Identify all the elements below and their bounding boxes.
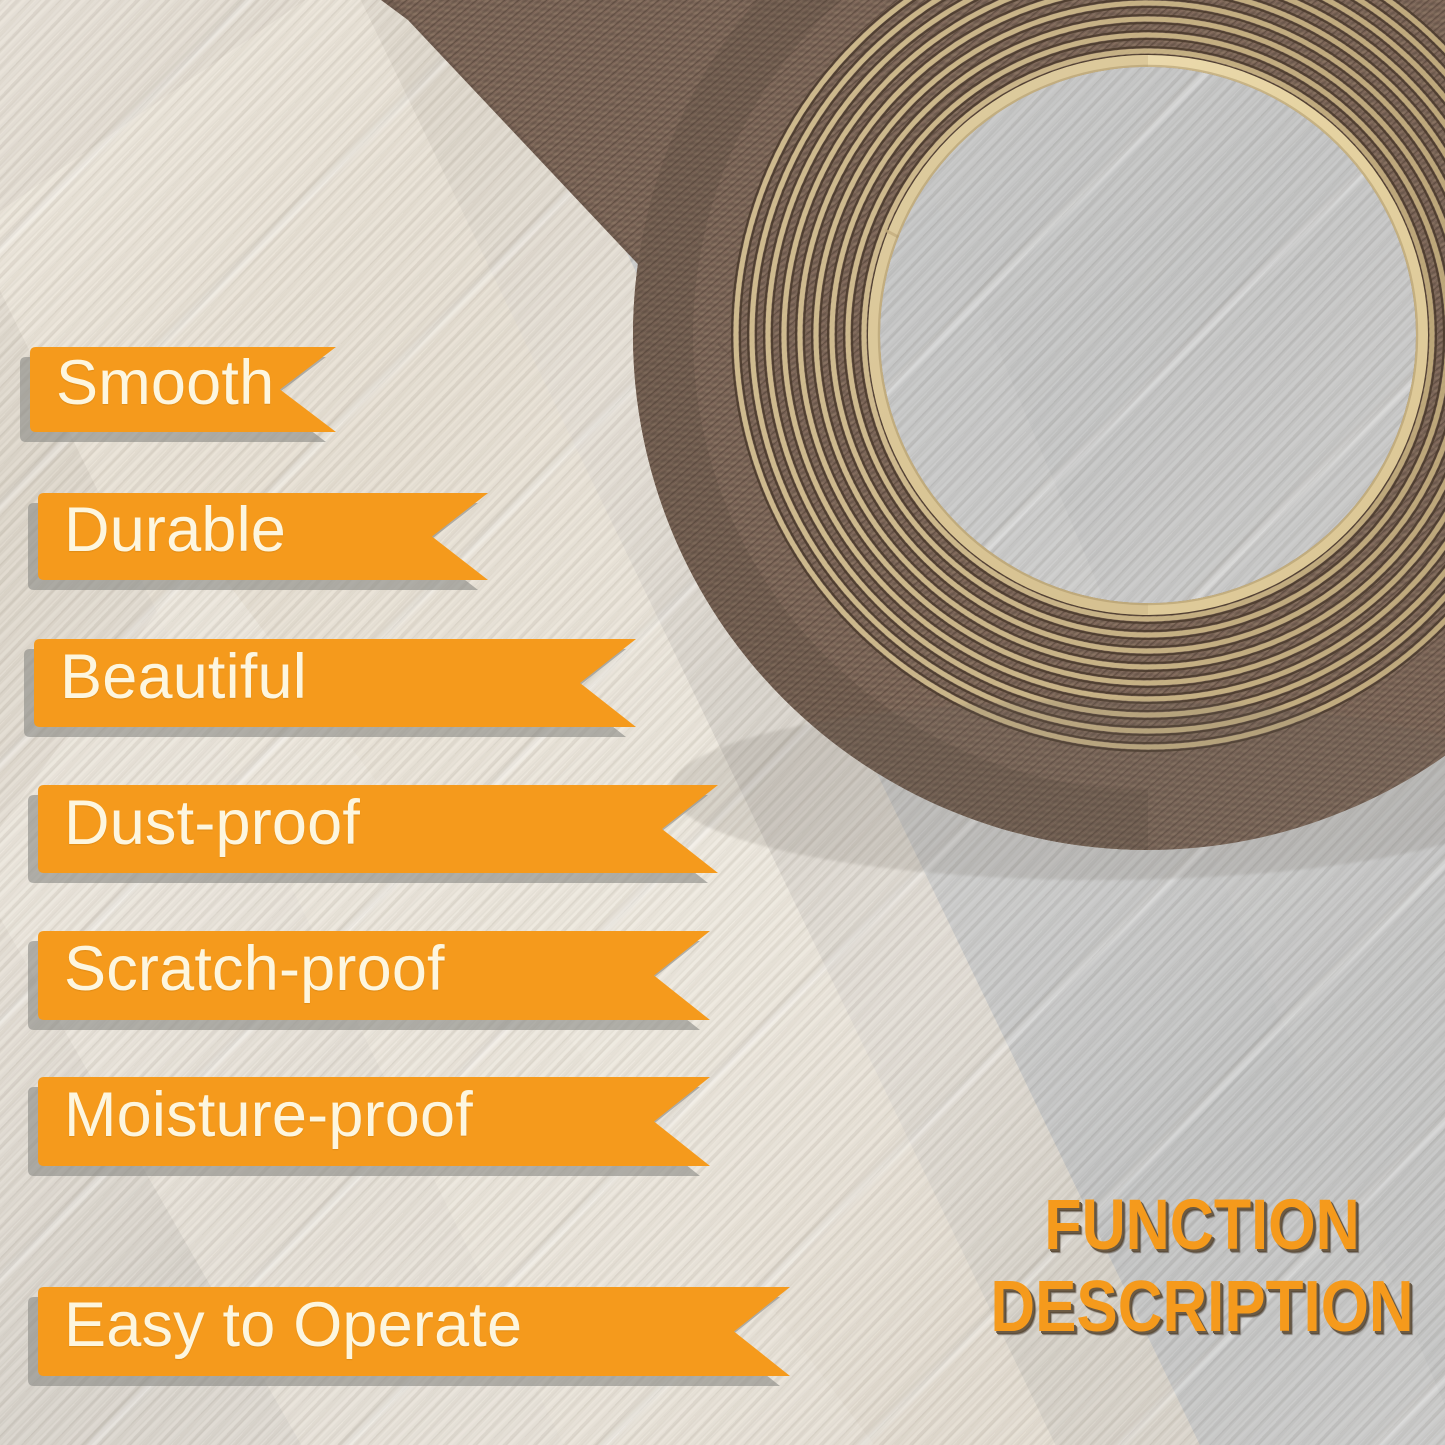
feature-banner: Moisture-proof (28, 1071, 700, 1160)
feature-banner: Smooth (20, 341, 326, 426)
product-feature-graphic: SmoothDurableBeautifulDust-proofScratch-… (0, 0, 1445, 1445)
feature-banner: Beautiful (24, 633, 626, 721)
feature-banner-label: Dust-proof (28, 792, 360, 855)
headline-line-2: DESCRIPTION (987, 1273, 1417, 1342)
feature-banner-label: Easy to Operate (28, 1294, 522, 1357)
feature-banner-label: Moisture-proof (28, 1084, 473, 1147)
feature-banner-label: Scratch-proof (28, 938, 445, 1001)
feature-banner: Durable (28, 487, 478, 574)
headline-line-1: FUNCTION (987, 1192, 1417, 1260)
feature-banner-label: Durable (28, 499, 286, 562)
feature-banner-label: Beautiful (24, 646, 307, 709)
feature-banner: Scratch-proof (28, 925, 700, 1014)
feature-banner: Easy to Operate (28, 1281, 780, 1370)
feature-banner: Dust-proof (28, 779, 708, 867)
headline-function-description: FUNCTION DESCRIPTION (952, 1192, 1445, 1342)
feature-banner-label: Smooth (20, 352, 274, 415)
